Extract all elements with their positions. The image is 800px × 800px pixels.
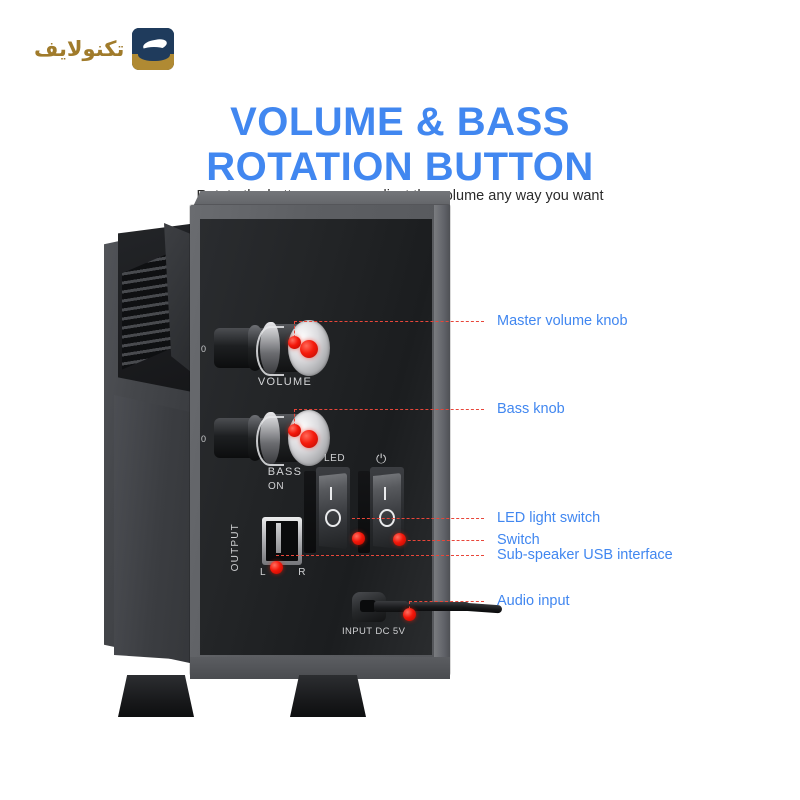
callout-label-master-volume-knob: Master volume knob — [497, 313, 628, 329]
callout-leader-master-volume-knob — [294, 321, 484, 322]
switch-on-mark-icon — [384, 487, 386, 500]
callout-label-audio-input: Audio input — [497, 593, 570, 609]
callout-marker-master-volume-knob — [288, 336, 301, 349]
switch-on-mark-icon — [330, 487, 332, 500]
title-line-1: VOLUME & BASS — [230, 100, 570, 144]
bass-knob-indicator-dot — [300, 430, 318, 448]
output-channel-labels: L R — [260, 567, 306, 578]
callout-marker-led-light-switch — [352, 532, 365, 545]
speaker-foot — [290, 675, 366, 717]
bass-zero-mark: 0 — [201, 434, 206, 444]
volume-knob-pointer-icon — [256, 326, 284, 376]
technolife-logo-icon — [132, 28, 174, 70]
power-symbol-icon: ⏻ — [376, 451, 387, 467]
volume-zero-mark: 0 — [201, 344, 206, 354]
callout-leader-audio-input — [409, 601, 484, 602]
output-right-label: R — [298, 567, 306, 578]
callout-label-bass-knob: Bass knob — [497, 401, 565, 417]
callout-marker-audio-input — [403, 608, 416, 621]
speaker-illustration: 0 VOLUME 0 BASS LED ⏻ ON OFF — [104, 205, 464, 705]
slide-canvas: تکنولایف VOLUME & BASS ROTATION BUTTON R… — [0, 0, 800, 800]
callout-leader-bass-knob — [294, 409, 484, 410]
usb-port-icon — [262, 517, 302, 565]
callout-marker-bass-knob — [288, 424, 301, 437]
callout-leader-switch — [398, 540, 484, 541]
brand-logo: تکنولایف — [34, 28, 174, 70]
dc-input-label: INPUT DC 5V — [342, 626, 405, 637]
bass-knob-pointer-icon — [256, 416, 284, 466]
callout-leader-usb-interface — [276, 555, 484, 556]
volume-knob-indicator-dot — [300, 340, 318, 358]
switch-on-label: ON — [268, 481, 284, 492]
led-switch-label: LED — [324, 453, 345, 464]
volume-knob-label: VOLUME — [240, 376, 330, 388]
callout-label-led-light-switch: LED light switch — [497, 510, 600, 526]
callout-label-switch: Switch — [497, 532, 540, 548]
speaker-foot — [118, 675, 194, 717]
callout-leader-led-light-switch — [352, 518, 484, 519]
page-title: VOLUME & BASS ROTATION BUTTON — [0, 100, 800, 190]
callout-marker-switch — [393, 533, 406, 546]
sub-speaker-usb-interface[interactable]: OUTPUT L R — [252, 517, 344, 589]
title-line-2: ROTATION BUTTON — [0, 145, 800, 190]
brand-name: تکنولایف — [34, 39, 124, 60]
output-label: OUTPUT — [230, 523, 241, 571]
callout-marker-usb-interface — [270, 561, 283, 574]
output-left-label: L — [260, 567, 266, 578]
power-cable — [406, 602, 470, 611]
callout-label-usb-interface: Sub-speaker USB interface — [497, 547, 673, 563]
